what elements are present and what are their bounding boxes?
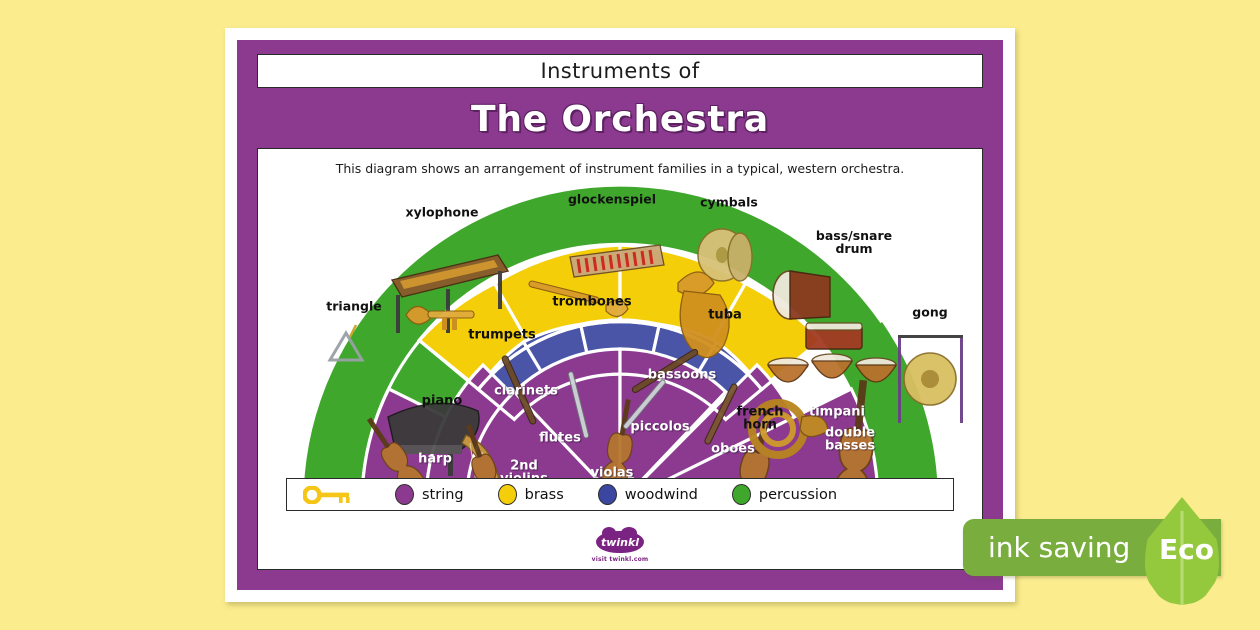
title-big-wrap: The Orchestra [237,96,1003,142]
legend-label-brass: brass [525,487,564,503]
poster-purple-frame: Instruments of The Orchestra This diagra… [237,40,1003,590]
eco-badge: ink saving Eco [963,481,1260,621]
legend-item-percussion[interactable]: percussion [732,484,837,505]
fan-svg [270,185,970,505]
legend-label-woodwind: woodwind [625,487,698,503]
orchestra-fan-diagram: triangle xylophone glockenspiel cymbals … [270,185,970,509]
diagram-canvas: This diagram shows an arrangement of ins… [257,148,983,570]
key-icon [303,486,353,504]
legend-item-woodwind[interactable]: woodwind [598,484,698,505]
legend-label-string: string [422,487,464,503]
eco-badge-text: ink saving [988,531,1130,564]
legend-item-brass[interactable]: brass [498,484,564,505]
legend-swatch-percussion [732,484,751,505]
twinkl-logo-text: twinkl [601,536,639,549]
poster-sheet: Instruments of The Orchestra This diagra… [225,28,1015,602]
legend: string brass woodwind percussion [286,478,954,511]
eco-badge-eco-text: Eco [1159,533,1214,566]
title-band: Instruments of [257,54,983,88]
timpani-icon [768,354,896,382]
cymbals-icon [698,229,752,281]
subtitle-text: This diagram shows an arrangement of ins… [258,161,982,176]
page-title-small: Instruments of [541,59,700,83]
legend-item-string[interactable]: string [395,484,464,505]
twinkl-url[interactable]: visit twinkl.com [592,556,649,563]
legend-label-percussion: percussion [759,487,837,503]
page-title: The Orchestra [471,99,769,140]
twinkl-footer[interactable]: twinkl visit twinkl.com [258,531,982,563]
legend-swatch-brass [498,484,517,505]
legend-swatch-woodwind [598,484,617,505]
twinkl-logo[interactable]: twinkl [596,531,644,553]
legend-swatch-string [395,484,414,505]
